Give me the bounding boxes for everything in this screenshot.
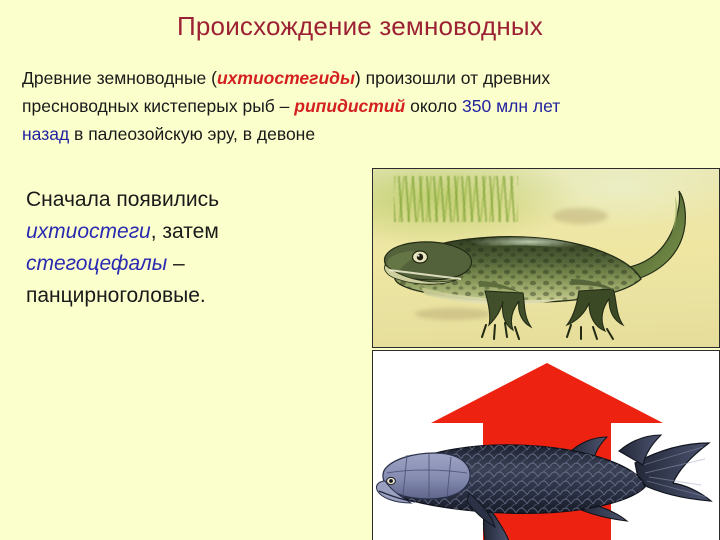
slide-root: Происхождение земноводных Древние земнов… — [0, 0, 720, 540]
rhipidistian-fish-illustration — [373, 351, 720, 540]
intro-line1-text-b: ) произошли от древних — [355, 68, 550, 88]
intro-paragraph: Древние земноводные (ихтиостегиды) произ… — [22, 64, 704, 148]
body-line-2: ихтиостеги, затем — [26, 216, 356, 248]
ichthyostega-image-panel — [372, 168, 720, 348]
body-line2-rest: , затем — [151, 220, 219, 243]
intro-line2-text-b: около — [405, 96, 462, 116]
intro-word-ago: назад — [22, 124, 69, 144]
intro-term-ichthyostegids: ихтиостегиды — [217, 68, 355, 88]
body-line3-rest: – — [167, 252, 185, 275]
intro-line2-text-a: пресноводных кистеперых рыб – — [22, 96, 294, 116]
rhipidistia-image-panel — [372, 350, 720, 540]
intro-line-1: Древние земноводные (ихтиостегиды) произ… — [22, 64, 704, 92]
body-text-block: Сначала появились ихтиостеги, затем стег… — [26, 184, 356, 312]
body-line-1: Сначала появились — [26, 184, 356, 216]
body-term-stegocephalians: стегоцефалы — [26, 252, 167, 275]
body-term-ichthyostegi: ихтиостеги — [26, 220, 151, 243]
intro-number-years: 350 млн лет — [462, 96, 560, 116]
body-line-4: панцирноголовые. — [26, 280, 356, 312]
intro-line-3: назад в палеозойскую эру, в девоне — [22, 120, 704, 148]
intro-line1-text-a: Древние земноводные ( — [22, 68, 217, 88]
intro-line-2: пресноводных кистеперых рыб – рипидистий… — [22, 92, 704, 120]
intro-term-rhipidistia: рипидистий — [294, 96, 405, 116]
body-line-3: стегоцефалы – — [26, 248, 356, 280]
page-title: Происхождение земноводных — [0, 10, 720, 42]
ichthyostega-illustration — [373, 169, 720, 348]
intro-line3-text-b: в палеозойскую эру, в девоне — [69, 124, 315, 144]
